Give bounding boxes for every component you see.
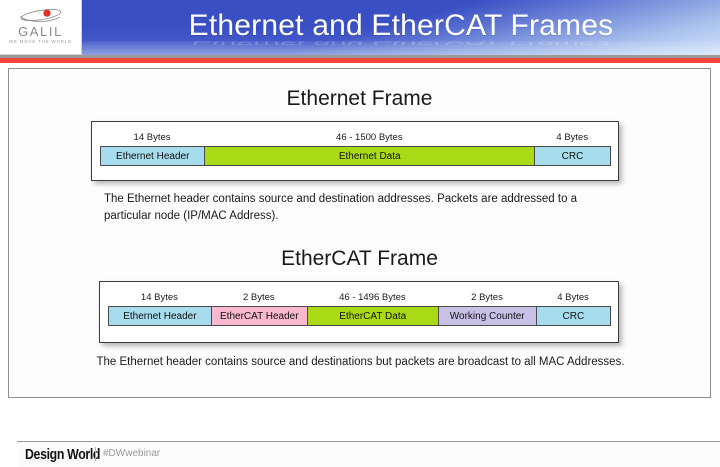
- ethercat-bytes-row: 14 Bytes2 Bytes46 - 1496 Bytes2 Bytes4 B…: [108, 290, 610, 305]
- webinar-hashtag: #DWwebinar: [103, 448, 160, 459]
- ethernet-field-block: CRC: [534, 146, 611, 166]
- content-panel: Ethernet Frame 14 Bytes46 - 1500 Bytes4 …: [8, 68, 711, 398]
- ethercat-bytes-label: 14 Bytes: [108, 290, 211, 305]
- ethercat-frame-diagram: 14 Bytes2 Bytes46 - 1496 Bytes2 Bytes4 B…: [99, 281, 619, 343]
- ethercat-field-block: Ethernet Header: [108, 306, 212, 326]
- ethercat-bytes-label: 46 - 1496 Bytes: [307, 290, 438, 305]
- design-world-brand: Design World: [25, 446, 100, 463]
- ethercat-description: The Ethernet header contains source and …: [29, 354, 692, 371]
- galil-logo-tagline: WE MOVE THE WORLD: [0, 39, 81, 44]
- slide-footer: Design World #DWwebinar: [17, 442, 720, 467]
- ethercat-bytes-label: 2 Bytes: [211, 290, 307, 305]
- ethernet-bytes-label: 14 Bytes: [100, 130, 204, 145]
- ethernet-bytes-label: 46 - 1500 Bytes: [204, 130, 534, 145]
- ethercat-field-block: EtherCAT Data: [307, 306, 439, 326]
- ethercat-bytes-label: 4 Bytes: [536, 290, 610, 305]
- ethernet-frame-diagram: 14 Bytes46 - 1500 Bytes4 Bytes Ethernet …: [91, 121, 619, 181]
- galil-logo-name: GALIL: [0, 24, 81, 39]
- ethernet-field-block: Ethernet Header: [100, 146, 205, 166]
- ethercat-blocks-row: Ethernet HeaderEtherCAT HeaderEtherCAT D…: [108, 306, 610, 326]
- ethercat-section-title: EtherCAT Frame: [9, 247, 710, 271]
- page-title: Ethernet and EtherCAT Frames: [82, 0, 720, 55]
- ethercat-bytes-label: 2 Bytes: [438, 290, 536, 305]
- ethernet-description: The Ethernet header contains source and …: [104, 191, 624, 225]
- ethercat-field-block: Working Counter: [438, 306, 537, 326]
- header-red-rule: [0, 58, 720, 63]
- galil-swoosh-icon: [14, 7, 68, 25]
- ethernet-bytes-label: 4 Bytes: [535, 130, 610, 145]
- slide-root: Ethernet and EtherCAT Frames Ethernet an…: [0, 0, 720, 405]
- ethercat-field-block: CRC: [536, 306, 611, 326]
- ethercat-field-block: EtherCAT Header: [211, 306, 308, 326]
- ethernet-field-block: Ethernet Data: [204, 146, 535, 166]
- ethernet-bytes-row: 14 Bytes46 - 1500 Bytes4 Bytes: [100, 130, 610, 145]
- ethernet-section-title: Ethernet Frame: [9, 87, 710, 111]
- ethernet-blocks-row: Ethernet HeaderEthernet DataCRC: [100, 146, 610, 166]
- slide-header: Ethernet and EtherCAT Frames Ethernet an…: [0, 0, 720, 55]
- galil-logo: GALIL WE MOVE THE WORLD: [0, 0, 82, 55]
- footer-separator: [95, 447, 96, 461]
